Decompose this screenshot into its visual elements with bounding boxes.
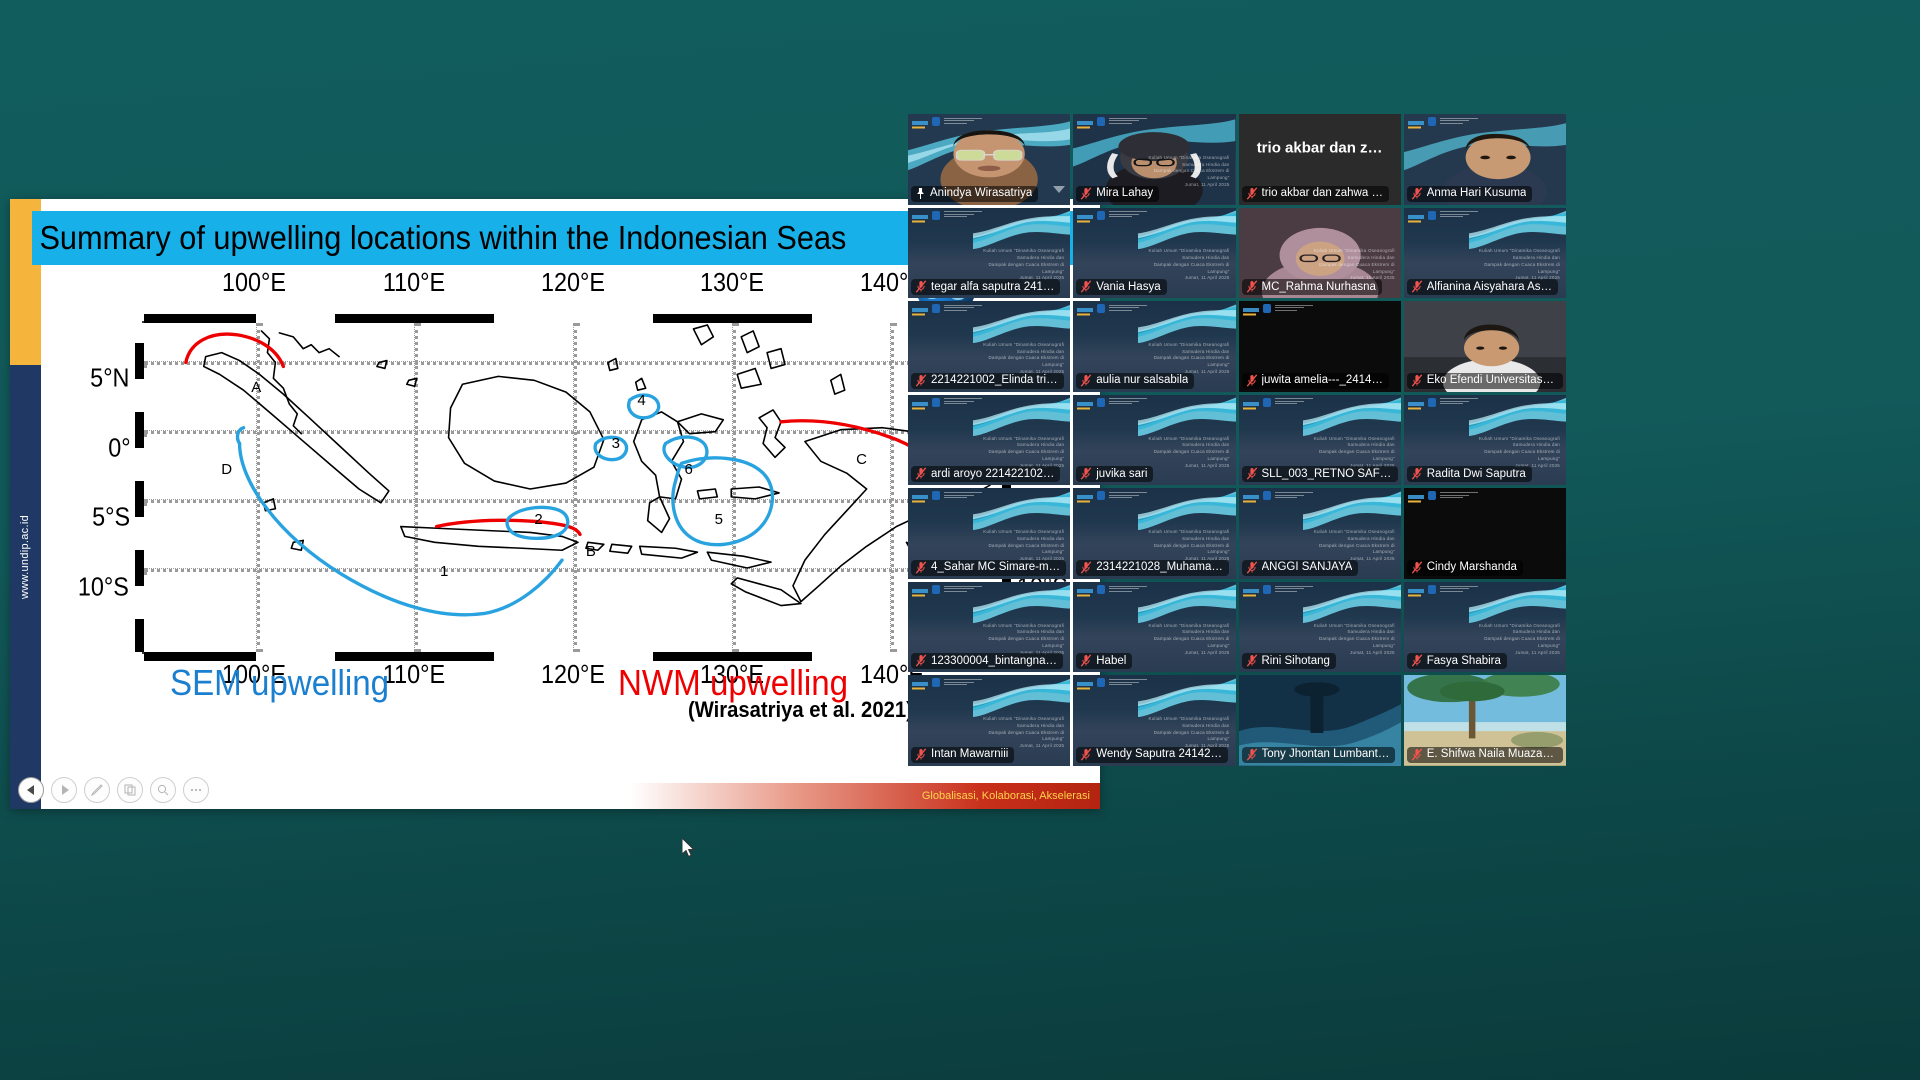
mic-muted-icon: [1411, 467, 1423, 480]
mic-muted-icon: [1246, 748, 1258, 761]
participant-display-name-large: trio akbar dan z…: [1239, 140, 1401, 157]
logo-mark-left: [1077, 398, 1093, 407]
mic-muted-icon: [915, 467, 927, 480]
logo-mark-crest: [1263, 304, 1271, 313]
virtual-background-caption: Kuliah Umum "Dinamika Oseanografi Samude…: [1135, 248, 1229, 282]
mic-muted-icon: [915, 748, 927, 761]
map-region-A: A: [251, 379, 261, 396]
participant-name-label: Intan Mawarniii: [931, 748, 1008, 760]
logo-text-lines: [1275, 586, 1313, 594]
logo-mark-crest: [932, 585, 940, 594]
logo-mark-crest: [1097, 304, 1105, 313]
mic-muted-icon: [915, 374, 927, 387]
virtual-background-logos: [912, 491, 982, 500]
logo-mark-crest: [1428, 585, 1436, 594]
participant-tile[interactable]: Kuliah Umum "Dinamika Oseanografi Samude…: [1239, 208, 1401, 299]
mic-muted-icon: [1080, 187, 1092, 200]
virtual-background-wave: [1303, 582, 1400, 624]
mic-muted-icon: [1080, 280, 1092, 293]
participant-name-badge: Eko Efendi Universitas …: [1407, 373, 1563, 389]
map-region-4: 4: [637, 392, 645, 409]
participant-name-label: Radita Dwi Saputra: [1427, 468, 1526, 480]
map-ribbon-top: [144, 314, 1002, 323]
virtual-background-wave-wrap: [973, 488, 1070, 530]
slide-website-url: www.undip.ac.id: [19, 504, 31, 610]
participant-name-badge: 123300004_bintangna…: [911, 653, 1063, 669]
virtual-background-wave: [973, 395, 1070, 437]
participant-name-label: Vania Hasya: [1096, 281, 1160, 293]
virtual-background-wave: [1469, 208, 1566, 250]
participant-name-label: 123300004_bintangna…: [931, 655, 1057, 667]
virtual-background-wave: [973, 301, 1070, 343]
participant-tile[interactable]: Kuliah Umum "Dinamika Oseanografi Samude…: [1404, 208, 1566, 299]
map-region-C: C: [856, 451, 867, 468]
logo-text-lines: [1275, 398, 1313, 406]
logo-mark-crest: [1097, 211, 1105, 220]
participant-tile[interactable]: juwita amelia---_2414…: [1239, 301, 1401, 392]
mic-muted-icon: [1246, 374, 1258, 387]
mic-muted-icon: [1246, 467, 1258, 480]
logo-text-lines: [944, 679, 982, 687]
participant-name-label: 2214221002_Elinda tri…: [931, 374, 1058, 386]
next-arrow-icon: [60, 785, 69, 795]
participant-name-label: ANGGI SANJAYA: [1262, 561, 1353, 573]
logo-mark-left: [1408, 117, 1424, 126]
virtual-background-wave-wrap: [973, 395, 1070, 437]
virtual-background-wave-wrap: [1303, 488, 1400, 530]
virtual-background-wave: [1138, 395, 1235, 437]
zoom-button[interactable]: [150, 777, 176, 803]
participant-name-badge: Rini Sihotang: [1242, 653, 1336, 669]
virtual-background-logos: [1077, 491, 1147, 500]
virtual-background-wave-wrap: [1138, 301, 1235, 343]
virtual-background-wave: [973, 582, 1070, 624]
annotation-toolbar[interactable]: [18, 777, 209, 803]
participant-name-badge: trio akbar dan zahwa …: [1242, 186, 1389, 202]
virtual-background-wave: [1303, 395, 1400, 437]
map-region-1: 1: [440, 563, 448, 580]
logo-text-lines: [1109, 118, 1147, 126]
lat-tick-left-2: 5°S: [92, 502, 130, 533]
map-lon-axis-top: 100°E 110°E 120°E 130°E 140°E: [142, 267, 1004, 301]
virtual-background-wave: [973, 488, 1070, 530]
next-slide-button[interactable]: [51, 777, 77, 803]
mic-muted-icon: [1411, 654, 1423, 667]
participant-name-label: 4_Sahar MC Simare-m…: [931, 561, 1060, 573]
virtual-background-logos: [1077, 585, 1147, 594]
mic-muted-icon: [1411, 187, 1423, 200]
more-options-button[interactable]: [183, 777, 209, 803]
logo-mark-left: [1077, 491, 1093, 500]
copy-icon: [124, 784, 136, 796]
participant-name-badge: Habel: [1076, 653, 1132, 669]
mic-muted-icon: [1080, 374, 1092, 387]
participant-tile[interactable]: Kuliah Umum "Dinamika Oseanografi Samude…: [1239, 582, 1401, 673]
logo-text-lines: [1440, 492, 1478, 500]
virtual-background-wave-wrap: [973, 675, 1070, 717]
map-ribbon-left: [135, 323, 144, 652]
mouse-cursor: [682, 838, 696, 858]
virtual-background-wave-wrap: [1469, 582, 1566, 624]
logo-mark-crest: [1097, 398, 1105, 407]
logo-mark-left: [1243, 491, 1259, 500]
map-lat-axis-left: 5°N 0° 5°S 10°S: [70, 321, 134, 654]
virtual-background-logos: [1243, 585, 1313, 594]
logo-text-lines: [944, 211, 982, 219]
virtual-background-logos: [912, 398, 982, 407]
virtual-background-logos: [1077, 117, 1147, 126]
virtual-background-caption: Kuliah Umum "Dinamika Oseanografi Samude…: [1135, 436, 1229, 470]
logo-text-lines: [1440, 398, 1478, 406]
participant-name-badge: SLL_003_RETNO SAFIT…: [1242, 466, 1398, 482]
participant-name-label: Wendy Saputra 24142…: [1096, 748, 1222, 760]
virtual-background-caption: Kuliah Umum "Dinamika Oseanografi Samude…: [1135, 155, 1229, 189]
virtual-background-caption: Kuliah Umum "Dinamika Oseanografi Samude…: [1301, 529, 1395, 563]
virtual-background-wave: [1138, 582, 1235, 624]
logo-mark-crest: [932, 398, 940, 407]
participant-tile[interactable]: Kuliah Umum "Dinamika Oseanografi Samude…: [1073, 301, 1235, 392]
virtual-background-wave-wrap: [1138, 395, 1235, 437]
participant-tile[interactable]: Kuliah Umum "Dinamika Oseanografi Samude…: [1073, 488, 1235, 579]
participant-name-label: Anma Hari Kusuma: [1427, 187, 1527, 199]
virtual-background-caption: Kuliah Umum "Dinamika Oseanografi Samude…: [970, 716, 1064, 750]
logo-mark-crest: [1097, 678, 1105, 687]
participant-tile[interactable]: Kuliah Umum "Dinamika Oseanografi Samude…: [908, 488, 1070, 579]
virtual-background-logos: [912, 117, 982, 126]
virtual-background-logos: [1408, 491, 1478, 500]
participant-name-badge: Mira Lahay: [1076, 186, 1159, 202]
virtual-background-wave: [1138, 301, 1235, 343]
logo-mark-left: [1077, 211, 1093, 220]
virtual-background-logos: [912, 678, 982, 687]
virtual-background-caption: Kuliah Umum "Dinamika Oseanografi Samude…: [1135, 529, 1229, 563]
legend-sem-upwelling: SEM upwelling: [170, 662, 389, 704]
participant-name-badge: Anindya Wirasatriya: [911, 186, 1038, 202]
map-plot-frame: 1 2 3 4 5 6 A B C D: [142, 321, 1004, 654]
logo-mark-crest: [932, 304, 940, 313]
virtual-background-wave: [1469, 395, 1566, 437]
participant-name-label: Mira Lahay: [1096, 187, 1153, 199]
participant-tile[interactable]: Kuliah Umum "Dinamika Oseanografi Samude…: [908, 675, 1070, 766]
more-dots-icon: [189, 788, 203, 792]
virtual-background-logos: [912, 585, 982, 594]
logo-text-lines: [944, 305, 982, 313]
logo-mark-crest: [1263, 585, 1271, 594]
virtual-background-wave-wrap: [973, 301, 1070, 343]
virtual-background-caption: Kuliah Umum "Dinamika Oseanografi Samude…: [1135, 623, 1229, 657]
participant-name-label: 2314221028_Muhama…: [1096, 561, 1223, 573]
participant-name-badge: 2214221002_Elinda tri…: [911, 373, 1064, 389]
participant-name-badge: Tony Jhontan Lumbant…: [1242, 747, 1396, 763]
participant-name-badge: E. Shifwa Naila Muazar…: [1407, 747, 1563, 763]
logo-mark-crest: [1097, 117, 1105, 126]
participant-tile[interactable]: Kuliah Umum "Dinamika Oseanografi Samude…: [908, 395, 1070, 486]
logo-text-lines: [1440, 118, 1478, 126]
virtual-background-caption: Kuliah Umum "Dinamika Oseanografi Samude…: [970, 436, 1064, 470]
participant-name-label: Rini Sihotang: [1262, 655, 1330, 667]
participant-name-badge: ANGGI SANJAYA: [1242, 560, 1359, 576]
mic-muted-icon: [1411, 280, 1423, 293]
map-region-B: B: [586, 543, 596, 560]
virtual-background-wave-wrap: [1303, 582, 1400, 624]
logo-mark-crest: [1097, 585, 1105, 594]
map-region-6: 6: [685, 461, 693, 478]
virtual-background-logos: [912, 211, 982, 220]
virtual-background-caption: Kuliah Umum "Dinamika Oseanografi Samude…: [1135, 342, 1229, 376]
logo-mark-left: [1408, 585, 1424, 594]
virtual-background-wave-wrap: [1469, 208, 1566, 250]
logo-text-lines: [944, 398, 982, 406]
logo-mark-crest: [1428, 398, 1436, 407]
previous-slide-button[interactable]: [18, 777, 44, 803]
virtual-background-wave: [1303, 488, 1400, 530]
participant-tile[interactable]: Tony Jhontan Lumbant…: [1239, 675, 1401, 766]
participant-name-badge: Cindy Marshanda: [1407, 560, 1523, 576]
logo-mark-crest: [1263, 398, 1271, 407]
virtual-background-caption: Kuliah Umum "Dinamika Oseanografi Samude…: [970, 529, 1064, 563]
logo-text-lines: [1109, 492, 1147, 500]
participant-name-badge: Intan Mawarniii: [911, 747, 1014, 763]
logo-mark-left: [912, 678, 928, 687]
virtual-background-wave: [1469, 582, 1566, 624]
virtual-background-caption: Kuliah Umum "Dinamika Oseanografi Samude…: [970, 342, 1064, 376]
logo-text-lines: [1109, 211, 1147, 219]
prev-arrow-icon: [27, 785, 36, 795]
virtual-background-logos: [1077, 304, 1147, 313]
virtual-background-wave-wrap: [1138, 488, 1235, 530]
virtual-background-caption: Kuliah Umum "Dinamika Oseanografi Samude…: [970, 623, 1064, 657]
map-coastline-drawing: [144, 323, 1002, 652]
logo-mark-crest: [1097, 491, 1105, 500]
map-region-3: 3: [612, 435, 620, 452]
lat-tick-left-3: 10°S: [78, 572, 129, 603]
virtual-background-wave-wrap: [973, 582, 1070, 624]
logo-mark-left: [912, 491, 928, 500]
virtual-background-logos: [1077, 398, 1147, 407]
logo-mark-left: [1408, 398, 1424, 407]
participant-name-badge: Alfianina Aisyahara As…: [1407, 279, 1558, 295]
virtual-background-wave: [1138, 488, 1235, 530]
participant-name-badge: 4_Sahar MC Simare-m…: [911, 560, 1066, 576]
logo-text-lines: [1275, 305, 1313, 313]
logo-text-lines: [1109, 679, 1147, 687]
logo-mark-left: [1077, 678, 1093, 687]
mic-muted-icon: [915, 561, 927, 574]
participant-name-badge: Vania Hasya: [1076, 279, 1166, 295]
participant-tile[interactable]: Kuliah Umum "Dinamika Oseanografi Samude…: [1073, 675, 1235, 766]
pen-icon: [91, 784, 103, 796]
virtual-background-wave: [973, 208, 1070, 250]
mic-muted-icon: [1080, 561, 1092, 574]
logo-text-lines: [1109, 305, 1147, 313]
logo-text-lines: [1440, 586, 1478, 594]
logo-text-lines: [1109, 398, 1147, 406]
participant-name-badge: Radita Dwi Saputra: [1407, 466, 1532, 482]
mic-muted-icon: [915, 280, 927, 293]
lon-tick-top-1: 110°E: [382, 267, 444, 298]
participant-tile[interactable]: Kuliah Umum "Dinamika Oseanografi Samude…: [908, 582, 1070, 673]
slide-bottom-banner: Globalisasi, Kolaborasi, Akselerasi: [630, 783, 1100, 809]
map-region-5: 5: [715, 511, 723, 528]
participant-tile[interactable]: Kuliah Umum "Dinamika Oseanografi Samude…: [908, 301, 1070, 392]
mic-muted-icon: [1246, 654, 1258, 667]
logo-mark-left: [912, 304, 928, 313]
virtual-background-caption: Kuliah Umum "Dinamika Oseanografi Samude…: [1301, 248, 1395, 282]
virtual-background-logos: [1408, 117, 1478, 126]
mic-muted-icon: [1246, 187, 1258, 200]
virtual-background-caption: Kuliah Umum "Dinamika Oseanografi Samude…: [1466, 248, 1560, 282]
lon-tick-bottom-2: 120°E: [541, 659, 605, 690]
participant-name-label: juwita amelia---_2414…: [1262, 374, 1383, 386]
virtual-background-logos: [1077, 211, 1147, 220]
participant-name-badge: Anma Hari Kusuma: [1407, 186, 1533, 202]
participant-name-label: Alfianina Aisyahara As…: [1427, 281, 1552, 293]
participant-name-badge: juwita amelia---_2414…: [1242, 373, 1389, 389]
logo-mark-left: [1077, 304, 1093, 313]
logo-mark-left: [1243, 398, 1259, 407]
lon-tick-top-0: 100°E: [222, 267, 286, 298]
participant-tile[interactable]: Kuliah Umum "Dinamika Oseanografi Samude…: [1404, 395, 1566, 486]
participant-name-label: ardi aroyo 221422102…: [931, 468, 1054, 480]
virtual-background-logos: [1408, 211, 1478, 220]
mic-muted-icon: [1411, 748, 1423, 761]
logo-mark-left: [912, 585, 928, 594]
participant-name-label: tegar alfa saputra 241…: [931, 281, 1054, 293]
lat-tick-left-0: 5°N: [91, 362, 130, 393]
virtual-background-logos: [912, 304, 982, 313]
logo-mark-left: [1077, 117, 1093, 126]
participant-name-label: E. Shifwa Naila Muazar…: [1427, 748, 1557, 760]
pen-tool-button[interactable]: [84, 777, 110, 803]
virtual-background-caption: Kuliah Umum "Dinamika Oseanografi Samude…: [1301, 623, 1395, 657]
participant-name-label: Habel: [1096, 655, 1126, 667]
copy-slide-button[interactable]: [117, 777, 143, 803]
logo-mark-left: [912, 398, 928, 407]
participant-tile[interactable]: Kuliah Umum "Dinamika Oseanografi Samude…: [1073, 582, 1235, 673]
logo-mark-crest: [932, 117, 940, 126]
map-ribbon-bottom: [144, 652, 1002, 661]
participant-name-badge: tegar alfa saputra 241…: [911, 279, 1060, 295]
logo-mark-left: [1243, 304, 1259, 313]
participant-tile[interactable]: Kuliah Umum "Dinamika Oseanografi Samude…: [1239, 395, 1401, 486]
mic-muted-icon: [1411, 561, 1423, 574]
participant-tile[interactable]: Kuliah Umum "Dinamika Oseanografi Samude…: [1073, 395, 1235, 486]
lon-tick-bottom-1: 110°E: [382, 659, 444, 690]
logo-text-lines: [944, 492, 982, 500]
participant-tile[interactable]: Cindy Marshanda: [1404, 488, 1566, 579]
logo-mark-crest: [1428, 117, 1436, 126]
participant-tile[interactable]: Kuliah Umum "Dinamika Oseanografi Samude…: [1073, 208, 1235, 299]
participant-name-badge: 2314221028_Muhama…: [1076, 560, 1229, 576]
virtual-background-wave-wrap: [973, 208, 1070, 250]
virtual-background-wave: [1138, 675, 1235, 717]
mic-muted-icon: [1080, 654, 1092, 667]
mic-muted-icon: [1411, 374, 1423, 387]
participant-tile[interactable]: Kuliah Umum "Dinamika Oseanografi Samude…: [908, 208, 1070, 299]
participant-name-label: Eko Efendi Universitas …: [1427, 374, 1557, 386]
participant-tile[interactable]: Anma Hari Kusuma: [1404, 114, 1566, 205]
logo-mark-left: [1243, 585, 1259, 594]
logo-mark-crest: [1263, 491, 1271, 500]
participant-name-badge: aulia nur salsabila: [1076, 373, 1194, 389]
page-title: Summary of upwelling locations within th…: [32, 219, 846, 257]
virtual-background-caption: Kuliah Umum "Dinamika Oseanografi Samude…: [1301, 436, 1395, 470]
participant-name-label: Cindy Marshanda: [1427, 561, 1517, 573]
logo-mark-left: [1408, 491, 1424, 500]
participant-more-options-icon[interactable]: [1052, 181, 1066, 199]
logo-text-lines: [1275, 492, 1313, 500]
participant-name-badge: Wendy Saputra 24142…: [1076, 747, 1228, 763]
slide-banner-text: Globalisasi, Kolaborasi, Akselerasi: [922, 790, 1100, 802]
virtual-background-wave-wrap: [1469, 395, 1566, 437]
logo-mark-crest: [932, 491, 940, 500]
participant-video-grid[interactable]: Anindya Wirasatriya Kuliah Umum "Dinamik…: [908, 114, 1566, 766]
map-region-2: 2: [534, 511, 542, 528]
participant-tile[interactable]: Kuliah Umum "Dinamika Oseanografi Samude…: [1073, 114, 1235, 205]
participant-tile[interactable]: Kuliah Umum "Dinamika Oseanografi Samude…: [1239, 488, 1401, 579]
virtual-background-logos: [1243, 491, 1313, 500]
sem-upwelling-outline: [237, 395, 772, 615]
participant-name-label: Tony Jhontan Lumbant…: [1262, 748, 1390, 760]
logo-mark-left: [912, 211, 928, 220]
virtual-background-logos: [1077, 678, 1147, 687]
participant-name-label: aulia nur salsabila: [1096, 374, 1188, 386]
logo-mark-crest: [932, 678, 940, 687]
participant-name-badge: ardi aroyo 221422102…: [911, 466, 1060, 482]
mic-muted-icon: [1246, 561, 1258, 574]
participant-name-badge: Fasya Shabira: [1407, 653, 1507, 669]
participant-tile[interactable]: E. Shifwa Naila Muazar…: [1404, 675, 1566, 766]
participant-name-label: trio akbar dan zahwa …: [1262, 187, 1383, 199]
virtual-background-wave-wrap: [1138, 582, 1235, 624]
lat-tick-left-1: 0°: [108, 432, 130, 463]
virtual-background-wave: [1138, 208, 1235, 250]
virtual-background-caption: Kuliah Umum "Dinamika Oseanografi Samude…: [1466, 436, 1560, 470]
mic-muted-icon: [1246, 280, 1258, 293]
participant-name-label: MC_Rahma Nurhasna: [1262, 281, 1376, 293]
virtual-background-logos: [1243, 398, 1313, 407]
logo-text-lines: [1440, 211, 1478, 219]
logo-text-lines: [1109, 586, 1147, 594]
participant-tile[interactable]: Anindya Wirasatriya: [908, 114, 1070, 205]
participant-name-badge: MC_Rahma Nurhasna: [1242, 279, 1382, 295]
mic-muted-icon: [1080, 748, 1092, 761]
logo-text-lines: [944, 118, 982, 126]
participant-name-label: Anindya Wirasatriya: [930, 187, 1032, 199]
mic-muted-icon: [1080, 467, 1092, 480]
pin-icon: [915, 187, 926, 200]
participant-name-label: SLL_003_RETNO SAFIT…: [1262, 468, 1392, 480]
logo-mark-left: [1408, 211, 1424, 220]
participant-name-label: juvika sari: [1096, 468, 1147, 480]
participant-tile[interactable]: Eko Efendi Universitas …: [1404, 301, 1566, 392]
participant-tile[interactable]: Kuliah Umum "Dinamika Oseanografi Samude…: [1404, 582, 1566, 673]
participant-tile[interactable]: trio akbar dan z… trio akbar dan zahwa …: [1239, 114, 1401, 205]
participant-name-badge: juvika sari: [1076, 466, 1153, 482]
logo-mark-crest: [932, 211, 940, 220]
lon-tick-top-3: 130°E: [700, 267, 764, 298]
lon-tick-top-2: 120°E: [541, 267, 605, 298]
virtual-background-caption: Kuliah Umum "Dinamika Oseanografi Samude…: [1135, 716, 1229, 750]
mic-muted-icon: [915, 654, 927, 667]
virtual-background-wave-wrap: [1303, 395, 1400, 437]
virtual-background-wave-wrap: [1138, 675, 1235, 717]
participant-name-label: Fasya Shabira: [1427, 655, 1501, 667]
slide-citation: (Wirasatriya et al. 2021): [688, 697, 913, 723]
map-region-D: D: [221, 461, 232, 478]
logo-mark-left: [1077, 585, 1093, 594]
logo-mark-crest: [1428, 211, 1436, 220]
